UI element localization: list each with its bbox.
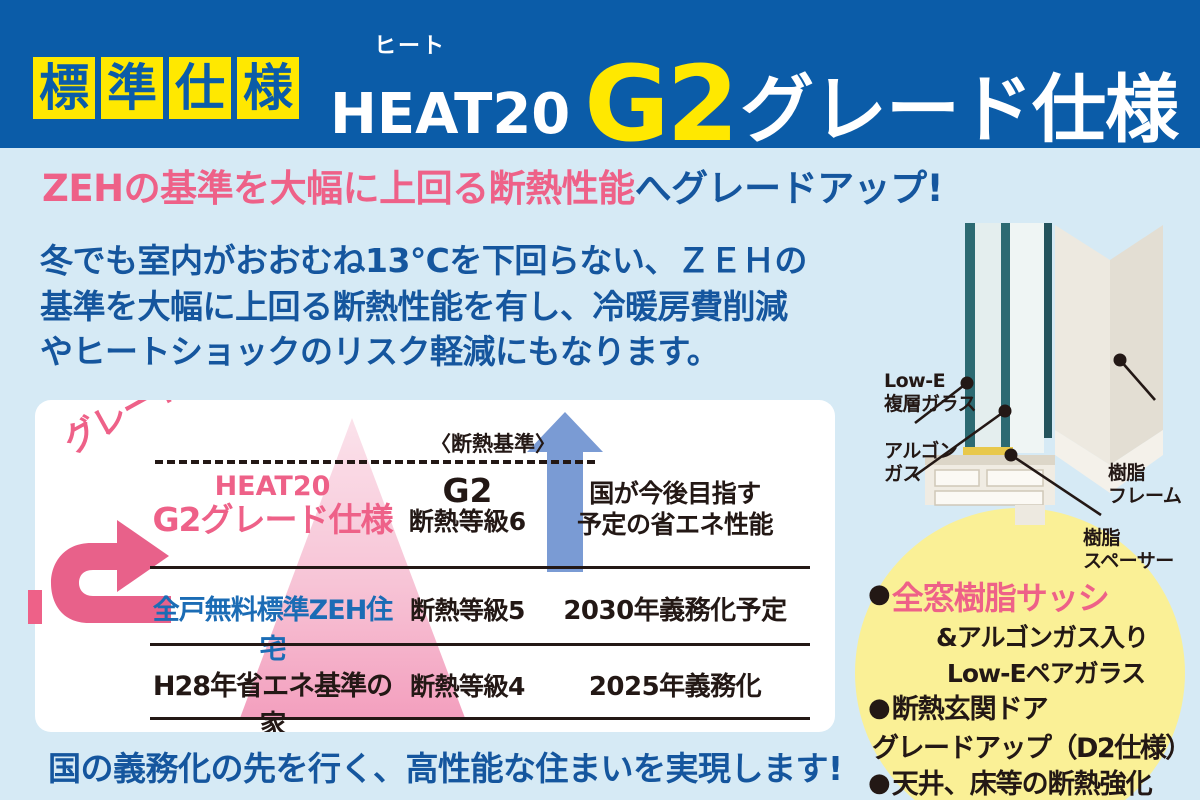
window-label-argon-line2: ガス xyxy=(884,463,957,486)
feature-item-1-sub-1: &アルゴンガス入り xyxy=(884,618,1200,654)
row-3-note: 2025年義務化 xyxy=(540,666,810,703)
bullet-dot-icon: ● xyxy=(868,580,891,609)
feature-item-1: ● 全窓樹脂サッシ xyxy=(868,580,1200,618)
row-1-grade-sub: 断熱等級6 xyxy=(395,509,540,535)
row-1-note: 国が今後目指す 予定の省エネ性能 xyxy=(540,478,810,541)
header-title-row: HEAT20 G2 グレード仕様 xyxy=(330,62,1178,147)
feature-item-3: ● 天井、床等の断熱強化 xyxy=(868,769,1200,800)
grade-up-label: グレードUP! xyxy=(53,400,249,463)
window-label-spacer-line2: スペーサー xyxy=(1083,550,1174,573)
header-title-block: ヒート HEAT20 G2 グレード仕様 xyxy=(330,36,1178,147)
g2-wordmark: G2 xyxy=(584,62,736,147)
row-2-note: 2030年義務化予定 xyxy=(540,590,810,627)
header-banner: 標 準 仕 様 ヒート HEAT20 G2 グレード仕様 xyxy=(0,0,1200,148)
lead-body-line-2: 基準を大幅に上回る断熱性能を有し、冷暖房費削減 xyxy=(40,284,870,330)
window-label-resin-spacer: 樹脂 スペーサー xyxy=(1083,527,1174,573)
insulation-standard-header: 〈断熱基準〉 xyxy=(430,428,556,458)
bullet-dot-icon: ● xyxy=(868,694,891,723)
window-label-low-e-line1: Low-E xyxy=(884,370,976,393)
row-1-name: HEAT20 G2グレード仕様 xyxy=(150,472,395,538)
row-2-name: 全戸無料標準ZEH住宅 xyxy=(150,588,395,666)
lead-body: 冬でも室内がおおむね13℃を下回らない、ＺＥＨの 基準を大幅に上回る断熱性能を有… xyxy=(40,238,870,375)
lead-body-line-1: 冬でも室内がおおむね13℃を下回らない、ＺＥＨの xyxy=(40,238,870,284)
standard-spec-badge: 標 準 仕 様 xyxy=(33,57,299,119)
feature-item-3-title: 天井、床等の断熱強化 xyxy=(892,769,1152,800)
window-label-resin-frame: 樹脂 フレーム xyxy=(1108,462,1181,508)
row-1-grade-main: G2 xyxy=(395,474,540,509)
lead-headline-rest: へグレードアップ! xyxy=(635,167,943,210)
table-rule-1 xyxy=(150,566,810,569)
badge-char-2: 準 xyxy=(101,57,163,119)
comparison-card: グレードUP! 〈断熱基準〉 HEAT20 G2グレード仕様 G2 断熱等級6 xyxy=(35,400,835,732)
row-3-name: H28年省エネ基準の家 xyxy=(150,664,395,732)
infographic-root: 標 準 仕 様 ヒート HEAT20 G2 グレード仕様 ZEHの基準を大幅に上… xyxy=(0,0,1200,800)
badge-char-3: 仕 xyxy=(169,57,231,119)
feature-item-2-title: 断熱玄関ドア xyxy=(892,694,1048,726)
feature-item-1-sub-2: Low-Eペアガラス xyxy=(892,654,1200,690)
row-3-grade: 断熱等級4 xyxy=(395,667,540,703)
lead-body-line-3: やヒートショックのリスク軽減にもなります。 xyxy=(40,329,870,375)
row-1-name-line1: HEAT20 xyxy=(150,472,395,502)
pink-connector-nub xyxy=(28,590,42,624)
bottom-tagline: 国の義務化の先を行く、高性能な住まいを実現します! xyxy=(48,742,843,790)
badge-char-4: 様 xyxy=(237,57,299,119)
window-label-frame-line1: 樹脂 xyxy=(1108,462,1181,485)
lead-headline-highlight: ZEHの基準を大幅に上回る断熱性能 xyxy=(42,167,635,210)
row-2-grade: 断熱等級5 xyxy=(395,591,540,627)
window-label-low-e-line2: 複層ガラス xyxy=(884,393,976,416)
window-label-argon-gas: アルゴン ガス xyxy=(884,440,957,486)
bullet-dot-icon: ● xyxy=(868,769,891,798)
row-1-grade: G2 断熱等級6 xyxy=(395,474,540,535)
lead-headline: ZEHの基準を大幅に上回る断熱性能へグレードアップ! xyxy=(42,170,943,207)
dashed-target-line xyxy=(155,460,595,464)
window-label-low-e: Low-E 複層ガラス xyxy=(884,370,976,416)
feature-item-1-title: 全窓樹脂サッシ xyxy=(892,580,1109,618)
table-rule-3 xyxy=(150,717,810,720)
window-label-argon-line1: アルゴン xyxy=(884,440,957,463)
feature-item-2: ● 断熱玄関ドア xyxy=(868,694,1200,726)
window-label-spacer-line1: 樹脂 xyxy=(1083,527,1174,550)
heat20-ruby: ヒート xyxy=(374,36,1178,60)
row-1-note-line1: 国が今後目指す xyxy=(540,478,810,509)
feature-item-2-sub-1: グレードアップ（D2仕様） xyxy=(872,726,1200,765)
row-1-name-line2: G2グレード仕様 xyxy=(150,502,395,538)
badge-char-1: 標 xyxy=(33,57,95,119)
grade-spec-title: グレード仕様 xyxy=(740,77,1178,148)
row-1-note-line2: 予定の省エネ性能 xyxy=(540,509,810,540)
heat20-wordmark: HEAT20 xyxy=(330,88,570,147)
window-label-frame-line2: フレーム xyxy=(1108,485,1181,508)
feature-list: ● 全窓樹脂サッシ &アルゴンガス入り Low-Eペアガラス ● 断熱玄関ドア … xyxy=(868,580,1200,800)
table-rule-2 xyxy=(150,643,810,646)
